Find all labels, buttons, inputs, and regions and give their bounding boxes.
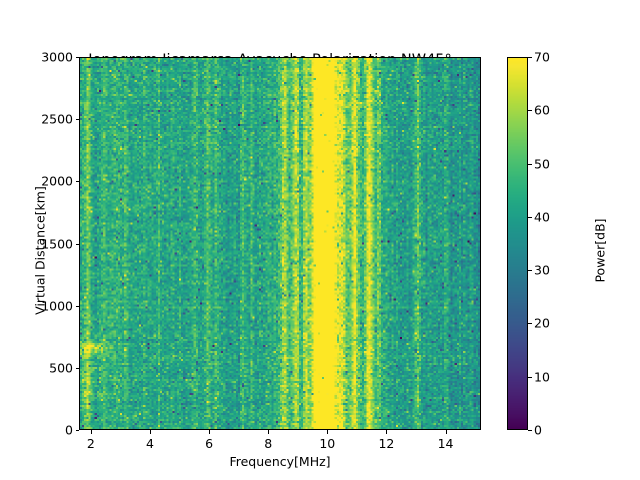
colorbar-tick-label-10: 10 — [534, 369, 550, 384]
colorbar-tick-30 — [528, 270, 532, 271]
x-tick-10 — [327, 430, 328, 434]
y-tick-2000 — [76, 181, 80, 182]
x-tick-8 — [268, 430, 269, 434]
x-tick-label-10: 10 — [319, 436, 335, 451]
y-tick-3000 — [76, 57, 80, 58]
x-tick-label-6: 6 — [205, 436, 213, 451]
colorbar-gradient — [508, 58, 527, 429]
x-tick-6 — [209, 430, 210, 434]
colorbar-tick-label-50: 50 — [534, 156, 550, 171]
colorbar-tick-20 — [528, 323, 532, 324]
x-tick-12 — [386, 430, 387, 434]
colorbar-tick-70 — [528, 57, 532, 58]
y-tick-0 — [76, 430, 80, 431]
x-tick-2 — [91, 430, 92, 434]
colorbar-tick-50 — [528, 164, 532, 165]
colorbar-label: Power[dB] — [593, 121, 608, 381]
y-tick-500 — [76, 368, 80, 369]
colorbar-tick-label-30: 30 — [534, 263, 550, 278]
x-tick-14 — [446, 430, 447, 434]
y-tick-1500 — [76, 244, 80, 245]
colorbar-tick-10 — [528, 377, 532, 378]
y-tick-2500 — [76, 119, 80, 120]
ionogram-heatmap — [80, 58, 480, 429]
y-tick-1000 — [76, 306, 80, 307]
power-colorbar — [507, 57, 528, 430]
x-tick-label-12: 12 — [378, 436, 394, 451]
colorbar-tick-60 — [528, 110, 532, 111]
colorbar-tick-label-40: 40 — [534, 209, 550, 224]
y-tick-label-500: 500 — [49, 360, 73, 375]
colorbar-tick-label-70: 70 — [534, 50, 550, 65]
x-tick-4 — [150, 430, 151, 434]
colorbar-tick-label-20: 20 — [534, 316, 550, 331]
y-tick-label-0: 0 — [65, 423, 73, 438]
colorbar-tick-label-0: 0 — [534, 423, 542, 438]
colorbar-tick-0 — [528, 430, 532, 431]
x-tick-label-14: 14 — [438, 436, 454, 451]
colorbar-tick-40 — [528, 217, 532, 218]
ionogram-figure: Ionogram Jicamarca-Ayacucho Polarization… — [0, 0, 640, 480]
x-tick-label-8: 8 — [264, 436, 272, 451]
x-tick-label-2: 2 — [87, 436, 95, 451]
x-axis-label: Frequency[MHz] — [79, 454, 481, 469]
x-tick-label-4: 4 — [146, 436, 154, 451]
y-axis-label: Virtual Distance[km] — [33, 51, 48, 451]
colorbar-tick-label-60: 60 — [534, 103, 550, 118]
ionogram-plot-area — [79, 57, 481, 430]
